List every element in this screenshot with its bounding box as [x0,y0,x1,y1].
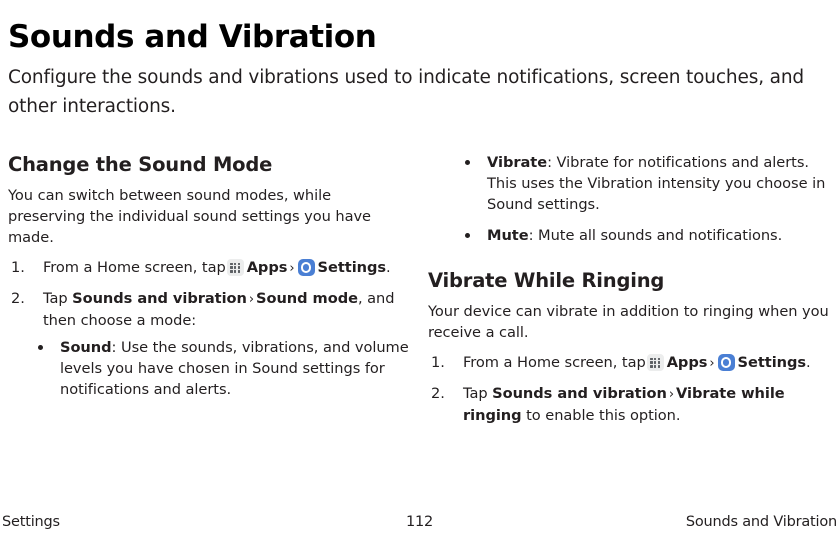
list-item: Sound: Use the sounds, vibrations, and v… [37,337,412,400]
list-item: Mute: Mute all sounds and notifications. [464,225,832,246]
section-heading-vibrate-while-ringing: Vibrate While Ringing [428,268,832,294]
bullet-dot-icon [465,233,470,238]
settings-label: Settings [318,259,387,276]
sound-mode-options-right: Vibrate: Vibrate for notifications and a… [428,152,832,246]
two-column-body: Change the Sound Mode You can switch bet… [0,152,839,502]
step-lead: Tap [43,290,68,307]
page-intro-paragraph: Configure the sounds and vibrations used… [8,63,818,121]
sound-mode-options-left: Sound: Use the sounds, vibrations, and v… [37,337,412,400]
step-number: 1. [11,257,25,278]
step-item: 2.Tap Sounds and vibration›Vibrate while… [428,383,832,426]
step-text: From a Home screen, tap [463,354,646,371]
menu-path-first: Sounds and vibration [492,385,667,402]
apps-label: Apps [667,354,708,371]
step-tail: to enable this option. [526,407,680,424]
document-page: Sounds and Vibration Configure the sound… [0,0,839,543]
step-number: 1. [431,352,445,373]
left-column: Change the Sound Mode You can switch bet… [8,152,412,410]
step-lead: Tap [463,385,488,402]
chevron-right-icon: › [287,258,296,279]
bullet-dot-icon [38,345,43,350]
menu-path-first: Sounds and vibration [72,290,247,307]
option-description: : Use the sounds, vibrations, and volume… [60,339,409,398]
section-paragraph-vibrate-while-ringing: Your device can vibrate in addition to r… [428,301,832,343]
steps-list-vibrate-while-ringing: 1.From a Home screen, tapApps›Settings. … [428,352,832,426]
step-trailing: . [386,259,391,276]
option-term: Sound [60,339,112,356]
step-item: 1.From a Home screen, tapApps›Settings. [8,257,412,279]
step-trailing: . [806,354,811,371]
option-term: Vibrate [487,154,547,171]
steps-list-change-the-sound-mode: 1.From a Home screen, tapApps›Settings. … [8,257,412,400]
step-item: 1.From a Home screen, tapApps›Settings. [428,352,832,374]
footer-chapter-label: Sounds and Vibration [686,511,837,533]
settings-gear-icon[interactable] [298,259,315,276]
option-term: Mute [487,227,529,244]
step-text: From a Home screen, tap [43,259,226,276]
apps-grid-icon[interactable] [647,354,664,371]
chevron-right-icon: › [247,289,256,310]
section-heading-change-the-sound-mode: Change the Sound Mode [8,152,412,178]
step-number: 2. [11,288,25,309]
apps-grid-icon[interactable] [227,259,244,276]
section-paragraph-change-the-sound-mode: You can switch between sound modes, whil… [8,185,412,248]
step-item: 2.Tap Sounds and vibration›Sound mode, a… [8,288,412,400]
bullet-dot-icon [465,160,470,165]
chevron-right-icon: › [707,353,716,374]
settings-label: Settings [738,354,807,371]
step-number: 2. [431,383,445,404]
chevron-right-icon: › [667,384,676,405]
settings-gear-icon[interactable] [718,354,735,371]
menu-path-second: Sound mode [256,290,358,307]
option-description: : Mute all sounds and notifications. [529,227,783,244]
page-title: Sounds and Vibration [8,17,376,57]
list-item: Vibrate: Vibrate for notifications and a… [464,152,832,215]
apps-label: Apps [247,259,288,276]
page-footer: Settings 112 Sounds and Vibration [0,511,839,533]
right-column: Vibrate: Vibrate for notifications and a… [428,152,832,435]
